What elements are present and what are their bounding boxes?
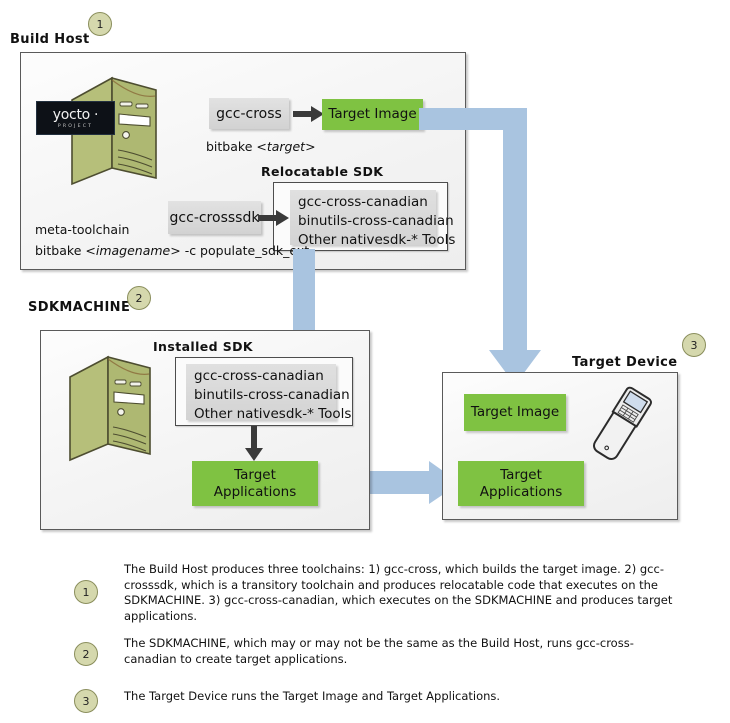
target-device-badge: 3	[682, 333, 706, 357]
sdkmachine-target-applications-line1: Target	[234, 467, 276, 484]
bitbake-target-em: <target>	[256, 139, 315, 154]
bitbake-populate-caption: bitbake <imagename> -c populate_sdk_ext	[35, 243, 309, 258]
legend-text-1: The Build Host produces three toolchains…	[124, 562, 684, 624]
relocatable-sdk-item-1: binutils-cross-canadian	[298, 212, 428, 231]
installed-sdk-item-0: gcc-cross-canadian	[194, 367, 328, 386]
bitbake-populate-em: <imagename>	[85, 243, 180, 258]
installed-sdk-item-1: binutils-cross-canadian	[194, 386, 328, 405]
target-device-label: Target Device	[572, 355, 678, 370]
sdkmachine-target-applications-box: Target Applications	[192, 461, 318, 506]
relocatable-sdk-item-0: gcc-cross-canadian	[298, 193, 428, 212]
legend-badge-3: 3	[74, 689, 98, 713]
relocatable-sdk-list: gcc-cross-canadian binutils-cross-canadi…	[290, 190, 436, 245]
legend-badge-1: 1	[74, 580, 98, 604]
gcc-crosssdk-box: gcc-crosssdk	[168, 201, 261, 234]
installed-sdk-to-target-applications-arrow	[244, 426, 264, 462]
bitbake-target-pre: bitbake	[206, 139, 256, 154]
build-host-badge: 1	[88, 12, 112, 36]
yocto-logo-subtext: PROJECT	[58, 124, 93, 129]
gcc-crosssdk-to-sdk-arrow	[258, 209, 290, 227]
sdkmachine-target-applications-line2: Applications	[214, 484, 296, 501]
sdkmachine-server-icon	[60, 351, 160, 463]
yocto-logo-wordmark: yocto ·	[53, 108, 98, 122]
legend-row-2: 2 The SDKMACHINE, which may or may not b…	[74, 636, 720, 667]
build-host-label: Build Host	[10, 32, 90, 47]
target-image-to-device-blue-arrow	[419, 100, 549, 390]
gcc-cross-to-target-image-arrow	[293, 105, 325, 123]
device-target-applications-line2: Applications	[480, 484, 562, 501]
bitbake-target-caption: bitbake <target>	[206, 139, 316, 154]
legend-row-1: 1 The Build Host produces three toolchai…	[74, 562, 720, 624]
device-target-applications-line1: Target	[500, 467, 542, 484]
legend-row-3: 3 The Target Device runs the Target Imag…	[74, 689, 720, 713]
installed-sdk-item-2: Other nativesdk-* Tools	[194, 405, 328, 424]
sdkmachine-label: SDKMACHINE	[28, 300, 130, 315]
meta-toolchain-caption: meta-toolchain	[35, 222, 129, 237]
bitbake-populate-pre: bitbake	[35, 243, 85, 258]
relocatable-sdk-label: Relocatable SDK	[261, 164, 383, 179]
installed-sdk-label: Installed SDK	[153, 339, 253, 354]
relocatable-sdk-item-2: Other nativesdk-* Tools	[298, 231, 428, 250]
legend-badge-2: 2	[74, 642, 98, 666]
sdkmachine-badge: 2	[127, 286, 151, 310]
device-target-applications-box: Target Applications	[458, 461, 584, 506]
mobile-phone-icon	[588, 387, 654, 463]
legend-text-3: The Target Device runs the Target Image …	[124, 689, 684, 705]
yocto-project-logo: yocto · PROJECT	[36, 101, 115, 135]
build-host-target-image-box: Target Image	[322, 99, 423, 130]
legend-text-2: The SDKMACHINE, which may or may not be …	[124, 636, 684, 667]
gcc-cross-box: gcc-cross	[209, 98, 289, 129]
installed-sdk-list: gcc-cross-canadian binutils-cross-canadi…	[186, 364, 336, 420]
legend: 1 The Build Host produces three toolchai…	[74, 562, 720, 713]
device-target-image-box: Target Image	[464, 394, 566, 431]
